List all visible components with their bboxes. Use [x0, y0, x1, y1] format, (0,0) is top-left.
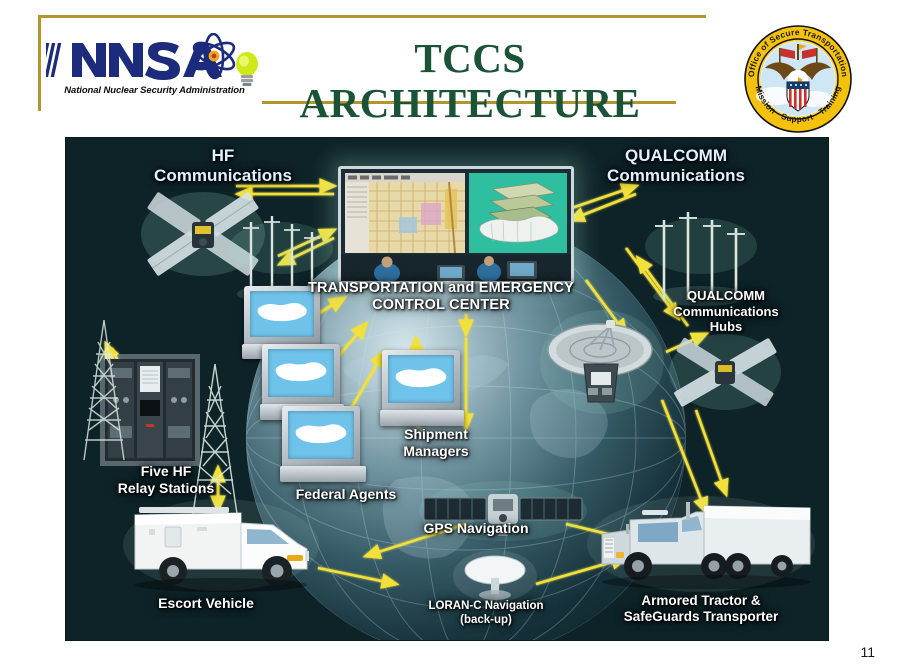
label-federal-agents: Federal Agents: [276, 486, 416, 503]
loran-antenna-icon: [452, 548, 538, 604]
ost-seal-icon: Office of Secure Transportation Mission …: [743, 24, 853, 134]
page-number: 11: [860, 644, 875, 660]
radio-tower-icon: [74, 314, 134, 464]
gold-bracket-horizontal: [38, 15, 706, 18]
label-hf-communications: HF Communications: [118, 146, 328, 187]
slide: National Nuclear Security Administration…: [0, 0, 901, 672]
nnsa-logo: National Nuclear Security Administration: [46, 33, 261, 105]
video-wall-icon: [338, 166, 574, 284]
van-icon: [121, 493, 321, 593]
tccs-architecture-diagram: HF Communications QUALCOMM Communication…: [65, 137, 829, 641]
label-armored-tractor: Armored Tractor & SafeGuards Transporter: [586, 593, 816, 625]
truck-icon: [586, 490, 816, 594]
satellite-icon: [666, 328, 784, 416]
label-shipment-managers: Shipment Managers: [376, 426, 496, 460]
us-map-icon: [273, 356, 328, 391]
gold-bracket-vertical: [38, 15, 41, 111]
label-control-center: TRANSPORTATION and EMERGENCY CONTROL CEN…: [271, 280, 611, 315]
us-map-icon: [293, 418, 348, 453]
label-loran-navigation: LORAN-C Navigation (back-up): [391, 600, 581, 628]
label-qualcomm-communications: QUALCOMM Communications: [566, 146, 786, 187]
us-map-icon: [393, 362, 448, 397]
nnsa-subtitle: National Nuclear Security Administration: [48, 85, 261, 96]
label-five-hf-relay-stations: Five HF Relay Stations: [96, 463, 236, 497]
label-qualcomm-hubs: QUALCOMM Communications Hubs: [636, 288, 816, 335]
page-title: TCCS ARCHITECTURE: [250, 36, 690, 126]
label-gps-navigation: GPS Navigation: [396, 520, 556, 537]
nnsa-wordmark-icon: [46, 33, 261, 85]
label-escort-vehicle: Escort Vehicle: [116, 595, 296, 612]
